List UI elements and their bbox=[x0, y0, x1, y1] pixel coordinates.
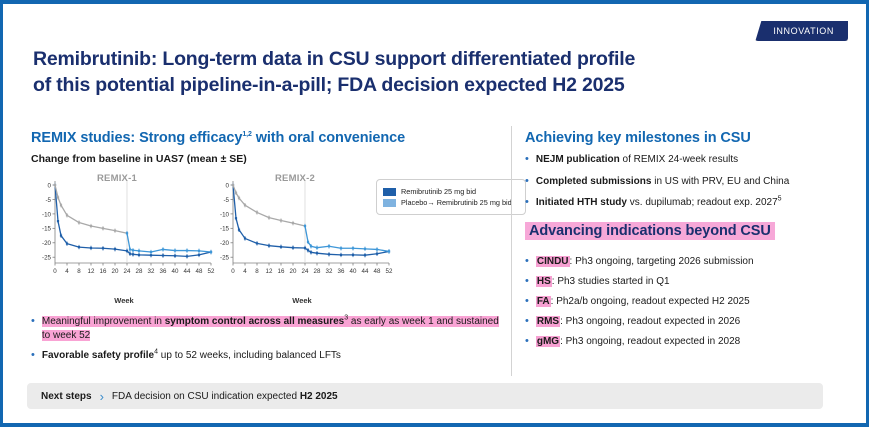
ms2-rest: in US with PRV, EU and China bbox=[651, 176, 789, 187]
svg-text:20: 20 bbox=[290, 268, 297, 275]
svg-text:-10: -10 bbox=[220, 211, 230, 218]
page-title-line2: of this potential pipeline-in-a-pill; FD… bbox=[33, 72, 793, 98]
indication-2-text: HS: Ph3 studies started in Q1 bbox=[536, 275, 670, 289]
milestone-3-text: Initiated HTH study vs. dupilumab; reado… bbox=[536, 196, 782, 210]
ms1-rest: of REMIX 24-week results bbox=[620, 154, 738, 165]
lb2-bold: Favorable safety profile bbox=[42, 350, 154, 361]
bullet-dot-icon: • bbox=[31, 349, 35, 363]
legend-item-remibrutinib: Remibrutinib 25 mg bid bbox=[383, 187, 519, 196]
legend-item-placebo-switch: Placebo→ Remibrutinib 25 mg bid bbox=[383, 198, 519, 207]
svg-text:8: 8 bbox=[77, 268, 81, 275]
list-item: • FA: Ph2a/b ongoing, readout expected H… bbox=[525, 295, 855, 309]
svg-text:4: 4 bbox=[243, 268, 247, 275]
next-steps-label: Next steps bbox=[27, 391, 92, 402]
svg-text:16: 16 bbox=[100, 268, 107, 275]
list-item: • RMS: Ph3 ongoing, readout expected in … bbox=[525, 315, 855, 329]
next-steps-text: FDA decision on CSU indication expected … bbox=[112, 391, 338, 402]
list-item: • HS: Ph3 studies started in Q1 bbox=[525, 275, 855, 289]
indication-2-tag: HS bbox=[536, 276, 552, 287]
bullet-dot-icon: • bbox=[525, 315, 529, 329]
svg-text:44: 44 bbox=[184, 268, 191, 275]
svg-text:-10: -10 bbox=[42, 211, 52, 218]
list-item: • gMG: Ph3 ongoing, readout expected in … bbox=[525, 335, 855, 349]
charts-container: REMIX-1 0-5-10-15-20-2504812162024283236… bbox=[31, 171, 501, 303]
svg-text:48: 48 bbox=[374, 268, 381, 275]
svg-text:28: 28 bbox=[136, 268, 143, 275]
chart-legend: Remibrutinib 25 mg bid Placebo→ Remibrut… bbox=[376, 179, 526, 215]
indication-1-text: CINDU: Ph3 ongoing, targeting 2026 submi… bbox=[536, 255, 754, 269]
list-item: • NEJM publication of REMIX 24-week resu… bbox=[525, 153, 855, 167]
list-item: • CINDU: Ph3 ongoing, targeting 2026 sub… bbox=[525, 255, 855, 269]
indication-4-text: RMS: Ph3 ongoing, readout expected in 20… bbox=[536, 315, 740, 329]
indication-1-rest: : Ph3 ongoing, targeting 2026 submission bbox=[570, 256, 754, 267]
bullet-dot-icon: • bbox=[525, 255, 529, 269]
bullet-dot-icon: • bbox=[525, 196, 529, 210]
ms1-bold: NEJM publication bbox=[536, 154, 620, 165]
indications-list: • CINDU: Ph3 ongoing, targeting 2026 sub… bbox=[525, 255, 855, 349]
left-heading-post: with oral convenience bbox=[252, 130, 405, 146]
slide-root: INNOVATION Remibrutinib: Long-term data … bbox=[0, 0, 869, 427]
svg-text:-20: -20 bbox=[42, 240, 52, 247]
ms3-rest: vs. dupilumab; readout exp. 2027 bbox=[627, 197, 778, 208]
svg-text:36: 36 bbox=[338, 268, 345, 275]
left-bullet-2-text: Favorable safety profile4 up to 52 weeks… bbox=[42, 349, 341, 363]
next-steps-text-bold: H2 2025 bbox=[300, 391, 338, 402]
indication-2-rest: : Ph3 studies started in Q1 bbox=[552, 276, 670, 287]
svg-text:12: 12 bbox=[88, 268, 95, 275]
svg-text:0: 0 bbox=[48, 182, 52, 189]
right-heading2-wrap: Advancing indications beyond CSU bbox=[525, 222, 855, 247]
bullet-dot-icon: • bbox=[525, 153, 529, 167]
svg-text:-20: -20 bbox=[220, 240, 230, 247]
legend-label-placebo-switch: Placebo→ Remibrutinib 25 mg bid bbox=[401, 198, 512, 207]
left-heading-superscript: 1,2 bbox=[242, 131, 251, 138]
chart-remix-1-xlabel: Week bbox=[31, 296, 217, 305]
svg-text:24: 24 bbox=[302, 268, 309, 275]
svg-text:40: 40 bbox=[172, 268, 179, 275]
svg-text:-25: -25 bbox=[220, 255, 230, 262]
right-section-heading-milestones: Achieving key milestones in CSU bbox=[525, 130, 855, 146]
left-section-heading: REMIX studies: Strong efficacy1,2 with o… bbox=[31, 130, 501, 146]
indication-4-tag: RMS bbox=[536, 316, 560, 327]
milestones-list: • NEJM publication of REMIX 24-week resu… bbox=[525, 153, 855, 210]
left-bullet-list: • Meaningful improvement in symptom cont… bbox=[31, 315, 501, 363]
chart-remix-1-plot: 0-5-10-15-20-250481216202428323640444852 bbox=[31, 171, 217, 289]
svg-text:-5: -5 bbox=[45, 197, 51, 204]
page-title-line1: Remibrutinib: Long-term data in CSU supp… bbox=[33, 46, 793, 72]
left-bullet-1-text: Meaningful improvement in symptom contro… bbox=[42, 315, 501, 342]
lb1-pre: Meaningful improvement in bbox=[42, 316, 165, 327]
svg-text:0: 0 bbox=[226, 182, 230, 189]
svg-text:12: 12 bbox=[266, 268, 273, 275]
innovation-badge: INNOVATION bbox=[755, 21, 848, 41]
list-item: • Initiated HTH study vs. dupilumab; rea… bbox=[525, 196, 855, 210]
left-column: REMIX studies: Strong efficacy1,2 with o… bbox=[31, 130, 501, 370]
list-item: • Meaningful improvement in symptom cont… bbox=[31, 315, 501, 342]
svg-text:48: 48 bbox=[196, 268, 203, 275]
svg-text:0: 0 bbox=[53, 268, 57, 275]
milestone-2-text: Completed submissions in US with PRV, EU… bbox=[536, 175, 789, 189]
lb1-bold: symptom control across all measures bbox=[165, 316, 345, 327]
svg-text:28: 28 bbox=[314, 268, 321, 275]
svg-text:36: 36 bbox=[160, 268, 167, 275]
list-item: • Completed submissions in US with PRV, … bbox=[525, 175, 855, 189]
indication-4-rest: : Ph3 ongoing, readout expected in 2026 bbox=[560, 316, 740, 327]
lb2-post: up to 52 weeks, including balanced LFTs bbox=[158, 350, 341, 361]
chart-subheading: Change from baseline in UAS7 (mean ± SE) bbox=[31, 153, 501, 165]
svg-text:16: 16 bbox=[278, 268, 285, 275]
legend-swatch-dark-icon bbox=[383, 188, 396, 196]
bullet-dot-icon: • bbox=[525, 175, 529, 189]
ms3-bold: Initiated HTH study bbox=[536, 197, 627, 208]
indication-5-rest: : Ph3 ongoing, readout expected in 2028 bbox=[560, 336, 740, 347]
svg-text:-15: -15 bbox=[220, 226, 230, 233]
legend-label-remibrutinib: Remibrutinib 25 mg bid bbox=[401, 187, 476, 196]
svg-text:-25: -25 bbox=[42, 255, 52, 262]
ms2-bold: Completed submissions bbox=[536, 176, 652, 187]
right-column: Achieving key milestones in CSU • NEJM p… bbox=[525, 130, 855, 355]
bullet-dot-icon: • bbox=[31, 315, 35, 342]
legend-swatch-light-icon bbox=[383, 199, 396, 207]
indication-3-text: FA: Ph2a/b ongoing, readout expected H2 … bbox=[536, 295, 750, 309]
milestone-1-text: NEJM publication of REMIX 24-week result… bbox=[536, 153, 738, 167]
svg-text:52: 52 bbox=[386, 268, 393, 275]
column-divider bbox=[511, 126, 512, 376]
next-steps-text-pre: FDA decision on CSU indication expected bbox=[112, 391, 300, 402]
indication-5-text: gMG: Ph3 ongoing, readout expected in 20… bbox=[536, 335, 740, 349]
svg-text:44: 44 bbox=[362, 268, 369, 275]
list-item: • Favorable safety profile4 up to 52 wee… bbox=[31, 349, 501, 363]
svg-text:-5: -5 bbox=[223, 197, 229, 204]
indication-3-rest: : Ph2a/b ongoing, readout expected H2 20… bbox=[551, 296, 750, 307]
chart-remix-2-xlabel: Week bbox=[209, 296, 395, 305]
next-steps-bar: Next steps › FDA decision on CSU indicat… bbox=[27, 383, 823, 409]
page-title: Remibrutinib: Long-term data in CSU supp… bbox=[33, 46, 793, 98]
right-section-heading-indications: Advancing indications beyond CSU bbox=[525, 222, 775, 240]
svg-text:32: 32 bbox=[148, 268, 155, 275]
chevron-right-icon: › bbox=[92, 389, 112, 404]
chart-remix-2-plot: 0-5-10-15-20-250481216202428323640444852 bbox=[209, 171, 395, 289]
indication-1-tag: CINDU bbox=[536, 256, 570, 267]
indication-5-tag: gMG bbox=[536, 336, 560, 347]
svg-text:0: 0 bbox=[231, 268, 235, 275]
svg-text:8: 8 bbox=[255, 268, 259, 275]
bullet-dot-icon: • bbox=[525, 295, 529, 309]
chart-remix-2: REMIX-2 0-5-10-15-20-2504812162024283236… bbox=[209, 171, 395, 303]
chart-remix-1: REMIX-1 0-5-10-15-20-2504812162024283236… bbox=[31, 171, 217, 303]
bullet-dot-icon: • bbox=[525, 275, 529, 289]
svg-text:-15: -15 bbox=[42, 226, 52, 233]
svg-text:4: 4 bbox=[65, 268, 69, 275]
svg-text:24: 24 bbox=[124, 268, 131, 275]
bullet-dot-icon: • bbox=[525, 335, 529, 349]
ms3-sup: 5 bbox=[778, 196, 782, 203]
svg-text:20: 20 bbox=[112, 268, 119, 275]
svg-text:32: 32 bbox=[326, 268, 333, 275]
left-heading-pre: REMIX studies: Strong efficacy bbox=[31, 130, 242, 146]
svg-text:40: 40 bbox=[350, 268, 357, 275]
indication-3-tag: FA bbox=[536, 296, 551, 307]
